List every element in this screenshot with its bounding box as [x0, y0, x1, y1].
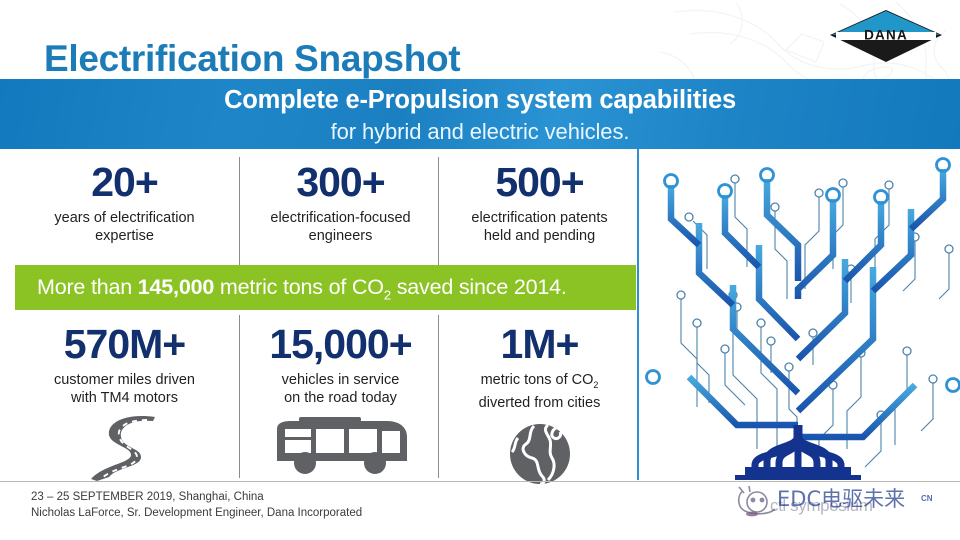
co2-middle: metric tons of CO: [214, 275, 384, 299]
stat-label-line2: expertise: [95, 228, 154, 244]
stat-number: 1M+: [441, 321, 638, 367]
stat-number: 20+: [26, 159, 223, 205]
circuit-tree-graphic: [637, 149, 960, 480]
stat-card-co2-diverted: 1M+ metric tons of CO2 diverted from cit…: [441, 321, 638, 492]
footer-event-line: 23 – 25 SEPTEMBER 2019, Shanghai, China: [31, 489, 362, 505]
co2-savings-text: More than 145,000 metric tons of CO2 sav…: [37, 265, 567, 310]
stat-card-vehicles: 15,000+ vehicles in service on the road …: [242, 321, 439, 487]
co2-highlight: 145,000: [138, 275, 214, 299]
stat-label-line2: held and pending: [484, 228, 595, 244]
stats-grid: 20+ years of electrification expertise 3…: [0, 155, 637, 480]
co2-suffix: saved since 2014.: [391, 275, 567, 299]
stat-card-patents: 500+ electrification patents held and pe…: [441, 159, 638, 245]
footer-presenter-line: Nicholas LaForce, Sr. Development Engine…: [31, 505, 362, 521]
dana-logo: DANA: [828, 8, 944, 64]
stat-label: customer miles driven with TM4 motors: [26, 371, 223, 407]
stat-label-line1: electrification-focused: [270, 210, 410, 226]
stat-number: 500+: [441, 159, 638, 205]
co2-subscript: 2: [384, 287, 391, 302]
bus-icon: [242, 415, 439, 487]
stat-label-line1: customer miles driven: [54, 372, 195, 388]
stat-label: electrification patents held and pending: [441, 209, 638, 245]
stat-label-line1: metric tons of CO: [481, 372, 594, 388]
stat-card-years: 20+ years of electrification expertise: [26, 159, 223, 245]
stat-number: 15,000+: [242, 321, 439, 367]
banner-headline: Complete e-Propulsion system capabilitie…: [0, 86, 960, 115]
watermark-superscript: CN: [921, 494, 933, 503]
stat-card-miles: 570M+ customer miles driven with TM4 mot…: [26, 321, 223, 487]
stat-label: electrification-focused engineers: [242, 209, 439, 245]
stat-number: 300+: [242, 159, 439, 205]
stat-label: vehicles in service on the road today: [242, 371, 439, 407]
stat-divider-1-top: [239, 157, 240, 265]
slide-canvas: Electrification Snapshot DANA Complete e…: [0, 0, 960, 540]
stat-label-line1: years of electrification: [54, 210, 194, 226]
stat-label-line2: on the road today: [284, 390, 397, 406]
co2-savings-banner: More than 145,000 metric tons of CO2 sav…: [15, 265, 636, 310]
banner: Complete e-Propulsion system capabilitie…: [0, 79, 960, 149]
stat-label-line1: electrification patents: [471, 210, 607, 226]
stat-card-engineers: 300+ electrification-focused engineers: [242, 159, 439, 245]
stat-label: metric tons of CO2 diverted from cities: [441, 371, 638, 412]
footer-divider: [0, 481, 960, 482]
ctl-symposium-logo: ctl symposium: [770, 496, 873, 516]
stat-label-line2: diverted from cities: [479, 395, 601, 411]
co2-prefix: More than: [37, 275, 138, 299]
svg-text:DANA: DANA: [864, 28, 908, 43]
winding-road-icon: [26, 415, 223, 487]
banner-subline: for hybrid and electric vehicles.: [0, 119, 960, 145]
stat-label-line2: with TM4 motors: [71, 390, 178, 406]
footer: 23 – 25 SEPTEMBER 2019, Shanghai, China …: [31, 489, 362, 521]
stat-label-line2: engineers: [309, 228, 373, 244]
stat-label-line1: vehicles in service: [282, 372, 400, 388]
stat-divider-1-bottom: [239, 315, 240, 478]
stat-label-subscript: 2: [593, 380, 598, 390]
stat-number: 570M+: [26, 321, 223, 367]
stat-label: years of electrification expertise: [26, 209, 223, 245]
page-title: Electrification Snapshot: [44, 38, 460, 80]
